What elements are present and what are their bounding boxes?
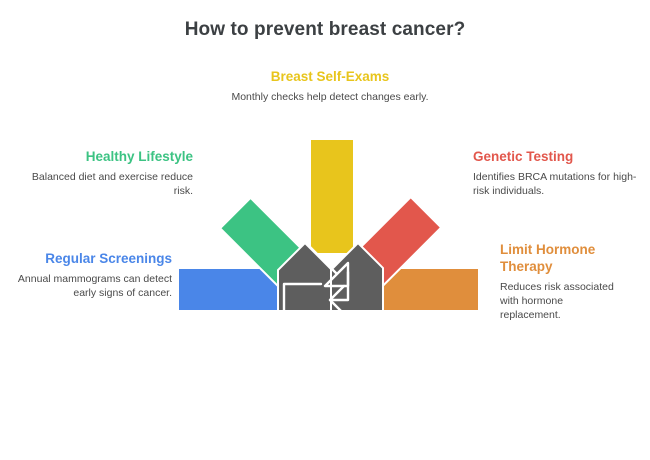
bar-breast-self-exams[interactable] (310, 139, 354, 254)
callout-heading: Regular Screenings (10, 250, 172, 267)
callout-heading: Genetic Testing (473, 148, 643, 165)
callout-limit-hormone-therapy[interactable]: Limit Hormone Therapy Reduces risk assoc… (500, 241, 625, 322)
bar-regular-screenings[interactable] (178, 268, 279, 311)
callout-breast-self-exams[interactable]: Breast Self-Exams Monthly checks help de… (225, 68, 435, 104)
bar-limit-hormone-therapy[interactable] (382, 268, 479, 311)
callout-regular-screenings[interactable]: Regular Screenings Annual mammograms can… (10, 250, 172, 300)
callout-body: Annual mammograms can detect early signs… (10, 272, 172, 300)
callout-body: Reduces risk associated with hormone rep… (500, 280, 625, 322)
callout-genetic-testing[interactable]: Genetic Testing Identifies BRCA mutation… (473, 148, 643, 198)
callout-heading: Healthy Lifestyle (28, 148, 193, 165)
callout-healthy-lifestyle[interactable]: Healthy Lifestyle Balanced diet and exer… (28, 148, 193, 198)
callout-body: Monthly checks help detect changes early… (225, 90, 435, 104)
callout-body: Balanced diet and exercise reduce risk. (28, 170, 193, 198)
callout-heading: Breast Self-Exams (225, 68, 435, 85)
callout-heading: Limit Hormone Therapy (500, 241, 625, 275)
callout-body: Identifies BRCA mutations for high-risk … (473, 170, 643, 198)
infographic-canvas: How to prevent breast cancer? Breast Sel… (0, 0, 650, 460)
